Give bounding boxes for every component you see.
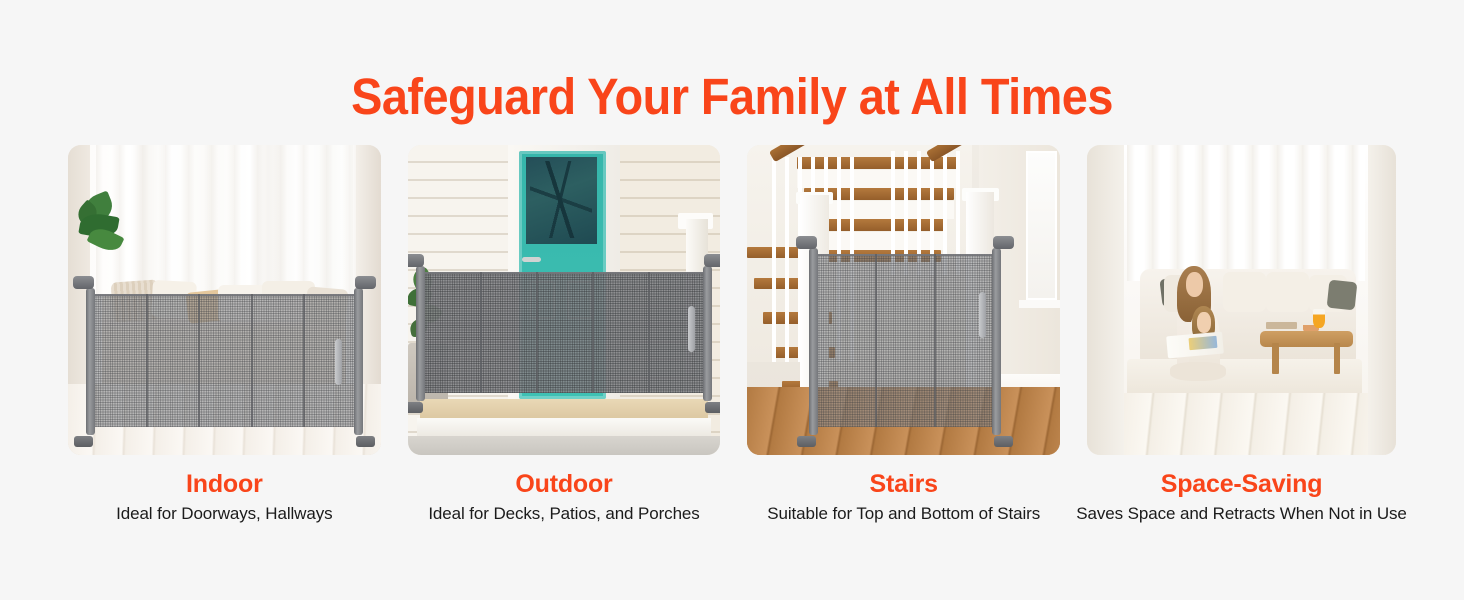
gate-post-foot bbox=[797, 436, 816, 447]
gate-post-left bbox=[809, 248, 818, 436]
card-description: Ideal for Decks, Patios, and Porches bbox=[428, 503, 699, 525]
card-description: Saves Space and Retracts When Not in Use bbox=[1076, 503, 1407, 525]
window-sill bbox=[1019, 300, 1060, 308]
photo-stairs bbox=[747, 145, 1060, 455]
sofa-cushion bbox=[1266, 272, 1309, 312]
mother-face bbox=[1186, 272, 1203, 297]
gate-handle bbox=[335, 339, 342, 385]
gate-seam bbox=[648, 272, 650, 393]
feature-card-space-saving[interactable]: Space-Saving Saves Space and Retracts Wh… bbox=[1087, 145, 1396, 525]
gate-post-foot bbox=[705, 402, 721, 413]
juice-glass bbox=[1313, 309, 1325, 328]
gate-seam bbox=[592, 272, 594, 393]
gate-seam bbox=[934, 254, 936, 428]
photo-outdoor bbox=[408, 145, 721, 455]
gate-post-left bbox=[416, 266, 425, 401]
table-leg bbox=[1272, 343, 1278, 374]
gate-post-right bbox=[354, 288, 363, 435]
tree-reflection bbox=[530, 161, 593, 239]
feature-card-outdoor[interactable]: Outdoor Ideal for Decks, Patios, and Por… bbox=[408, 145, 721, 525]
feature-card-stairs[interactable]: Stairs Suitable for Top and Bottom of St… bbox=[747, 145, 1060, 525]
card-label: Space-Saving bbox=[1161, 469, 1323, 499]
table-leg bbox=[1334, 343, 1340, 374]
gate-seam bbox=[146, 294, 148, 427]
photo-space-saving bbox=[1087, 145, 1396, 455]
gate-post-cap bbox=[73, 276, 94, 289]
card-label: Stairs bbox=[870, 469, 938, 499]
gate-seam bbox=[303, 294, 305, 427]
gate-seam bbox=[536, 272, 538, 393]
gate-seam bbox=[198, 294, 200, 427]
photo-indoor bbox=[68, 145, 381, 455]
retractable-safety-gate bbox=[816, 254, 994, 428]
gate-post-right bbox=[992, 248, 1001, 436]
retractable-safety-gate bbox=[423, 272, 704, 393]
gate-mesh bbox=[93, 294, 356, 427]
retractable-safety-gate bbox=[93, 294, 356, 427]
scene-family-living-room bbox=[1087, 145, 1396, 455]
gate-post-cap bbox=[408, 254, 425, 267]
gate-handle bbox=[979, 292, 986, 338]
sheer-curtain bbox=[1127, 145, 1365, 281]
throw-pillow-dark bbox=[1327, 280, 1358, 311]
promo-banner: Safeguard Your Family at All Times bbox=[0, 0, 1464, 600]
houseplant bbox=[77, 192, 140, 279]
doorway-jamb-left bbox=[1087, 145, 1124, 455]
window bbox=[1026, 151, 1057, 300]
gate-post-left bbox=[86, 288, 95, 435]
feature-card-row: Indoor Ideal for Doorways, Hallways bbox=[68, 145, 1396, 525]
gate-post-foot bbox=[74, 436, 93, 447]
gate-handle bbox=[688, 306, 695, 352]
child-face bbox=[1197, 312, 1211, 332]
scene-staircase bbox=[747, 145, 1060, 455]
wood-floor bbox=[1087, 393, 1396, 455]
gate-post-foot bbox=[408, 402, 424, 413]
gate-seam bbox=[251, 294, 253, 427]
gate-post-cap bbox=[796, 236, 817, 249]
card-label: Outdoor bbox=[515, 469, 612, 499]
gate-post-cap bbox=[355, 276, 376, 289]
page-title: Safeguard Your Family at All Times bbox=[59, 68, 1406, 126]
ground bbox=[408, 436, 721, 455]
doorway-jamb-right bbox=[1368, 145, 1396, 455]
gate-post-right bbox=[703, 266, 712, 401]
gate-seam bbox=[875, 254, 877, 428]
door-handle bbox=[522, 257, 541, 263]
sofa-cushion bbox=[1223, 272, 1266, 312]
gate-mesh bbox=[816, 254, 994, 428]
gate-post-cap bbox=[993, 236, 1014, 249]
scene-front-porch bbox=[408, 145, 721, 455]
gate-post-foot bbox=[356, 436, 375, 447]
gate-post-foot bbox=[994, 436, 1013, 447]
seated-legs bbox=[1170, 362, 1226, 381]
gate-post-cap bbox=[704, 254, 721, 267]
scene-living-room bbox=[68, 145, 381, 455]
card-description: Suitable for Top and Bottom of Stairs bbox=[767, 503, 1040, 525]
card-description: Ideal for Doorways, Hallways bbox=[116, 503, 332, 525]
feature-card-indoor[interactable]: Indoor Ideal for Doorways, Hallways bbox=[68, 145, 381, 525]
gate-seam bbox=[480, 272, 482, 393]
gate-mesh bbox=[423, 272, 704, 393]
card-label: Indoor bbox=[186, 469, 263, 499]
table-book bbox=[1266, 322, 1297, 330]
